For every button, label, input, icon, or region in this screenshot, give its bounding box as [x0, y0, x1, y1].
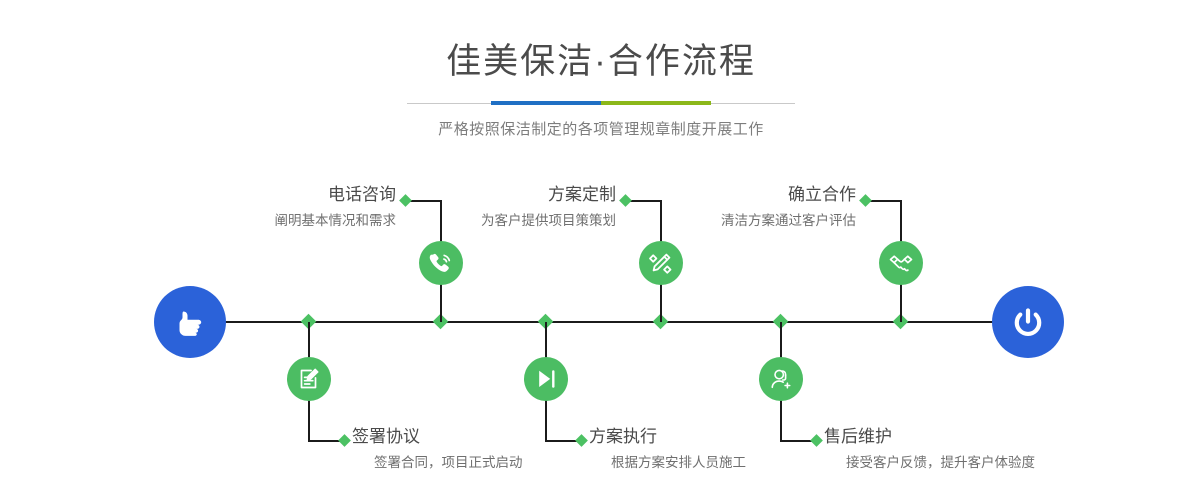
- step-label-bottom-2: 方案执行 根据方案安排人员施工: [589, 428, 839, 471]
- branch-tip-marker: [859, 194, 872, 207]
- divider-blue-segment: [491, 101, 601, 105]
- step-desc: 签署合同，项目正式启动: [374, 456, 602, 471]
- phone-call-icon: [428, 250, 454, 276]
- step-title: 售后维护: [824, 428, 1104, 447]
- step-title: 签署协议: [352, 428, 602, 447]
- step-label-top-2: 方案定制 为客户提供项目策策划: [370, 186, 616, 229]
- page-title: 佳美保洁·合作流程: [0, 0, 1202, 79]
- pointing-hand-icon: [170, 302, 210, 342]
- document-sign-icon: [296, 366, 322, 392]
- step-desc: 为客户提供项目策策划: [370, 214, 616, 229]
- step-desc: 接受客户反馈，提升客户体验度: [846, 456, 1104, 471]
- step-icon-phone-call: [419, 241, 463, 285]
- header: 佳美保洁·合作流程 严格按照保洁制定的各项管理规章制度开展工作: [0, 0, 1202, 139]
- pencil-design-icon: [648, 250, 674, 276]
- title-divider: [407, 100, 795, 106]
- step-title: 电话咨询: [150, 186, 396, 205]
- step-icon-handshake: [879, 241, 923, 285]
- process-flow-infographic: 佳美保洁·合作流程 严格按照保洁制定的各项管理规章制度开展工作: [0, 0, 1202, 502]
- power-icon: [1008, 302, 1048, 342]
- handshake-icon: [888, 250, 914, 276]
- step-title: 确立合作: [600, 186, 856, 205]
- step-icon-customer-service: [759, 357, 803, 401]
- divider-green-segment: [601, 101, 711, 105]
- play-execute-icon: [533, 366, 559, 392]
- customer-service-icon: [768, 366, 794, 392]
- timeline-end-endpoint: [992, 286, 1064, 358]
- branch-tip-marker: [338, 434, 351, 447]
- step-icon-play-execute: [524, 357, 568, 401]
- step-desc: 清洁方案通过客户评估: [600, 214, 856, 229]
- step-label-bottom-1: 签署协议 签署合同，项目正式启动: [352, 428, 602, 471]
- step-desc: 阐明基本情况和需求: [150, 214, 396, 229]
- step-icon-pencil-design: [639, 241, 683, 285]
- step-title: 方案执行: [589, 428, 839, 447]
- step-label-top-3: 确立合作 清洁方案通过客户评估: [600, 186, 856, 229]
- step-title: 方案定制: [370, 186, 616, 205]
- step-label-top-1: 电话咨询 阐明基本情况和需求: [150, 186, 396, 229]
- timeline-start-endpoint: [154, 286, 226, 358]
- step-desc: 根据方案安排人员施工: [611, 456, 839, 471]
- step-label-bottom-3: 售后维护 接受客户反馈，提升客户体验度: [824, 428, 1104, 471]
- page-subtitle: 严格按照保洁制定的各项管理规章制度开展工作: [0, 118, 1202, 139]
- step-icon-document-sign: [287, 357, 331, 401]
